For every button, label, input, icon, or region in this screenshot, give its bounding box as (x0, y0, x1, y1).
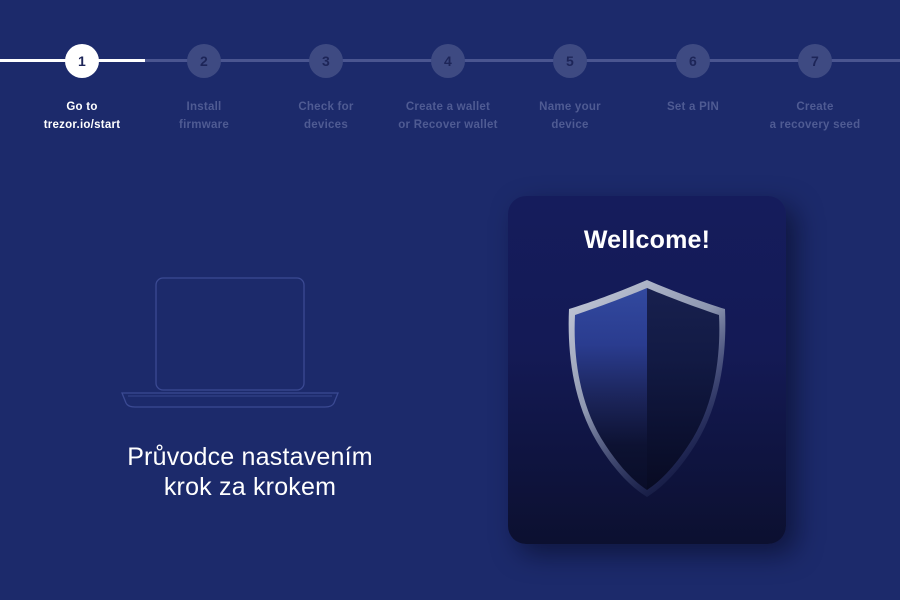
setup-stepper: 1 Go to trezor.io/start 2 Install firmwa… (0, 0, 900, 150)
step-label: Create a recovery seed (740, 98, 890, 134)
step-number-badge: 2 (187, 44, 221, 78)
illustration-caption: Průvodce nastavením krok za krokem (60, 442, 440, 502)
step-number-badge: 1 (65, 44, 99, 78)
laptop-outline-icon (110, 262, 400, 412)
step-number-badge: 7 (798, 44, 832, 78)
step-number-badge: 3 (309, 44, 343, 78)
step-number-badge: 6 (676, 44, 710, 78)
shield-icon (557, 276, 737, 501)
welcome-card: Wellcome! (508, 196, 786, 544)
caption-line-2: krok za krokem (60, 472, 440, 502)
card-title: Wellcome! (508, 226, 786, 255)
step-number-badge: 4 (431, 44, 465, 78)
caption-line-1: Průvodce nastavením (60, 442, 440, 472)
step-label-line2: device (495, 116, 645, 134)
step-number-badge: 5 (553, 44, 587, 78)
app-root: 1 Go to trezor.io/start 2 Install firmwa… (0, 0, 900, 600)
step-label-line1: Create (740, 98, 890, 116)
step-label-line2: a recovery seed (740, 116, 890, 134)
